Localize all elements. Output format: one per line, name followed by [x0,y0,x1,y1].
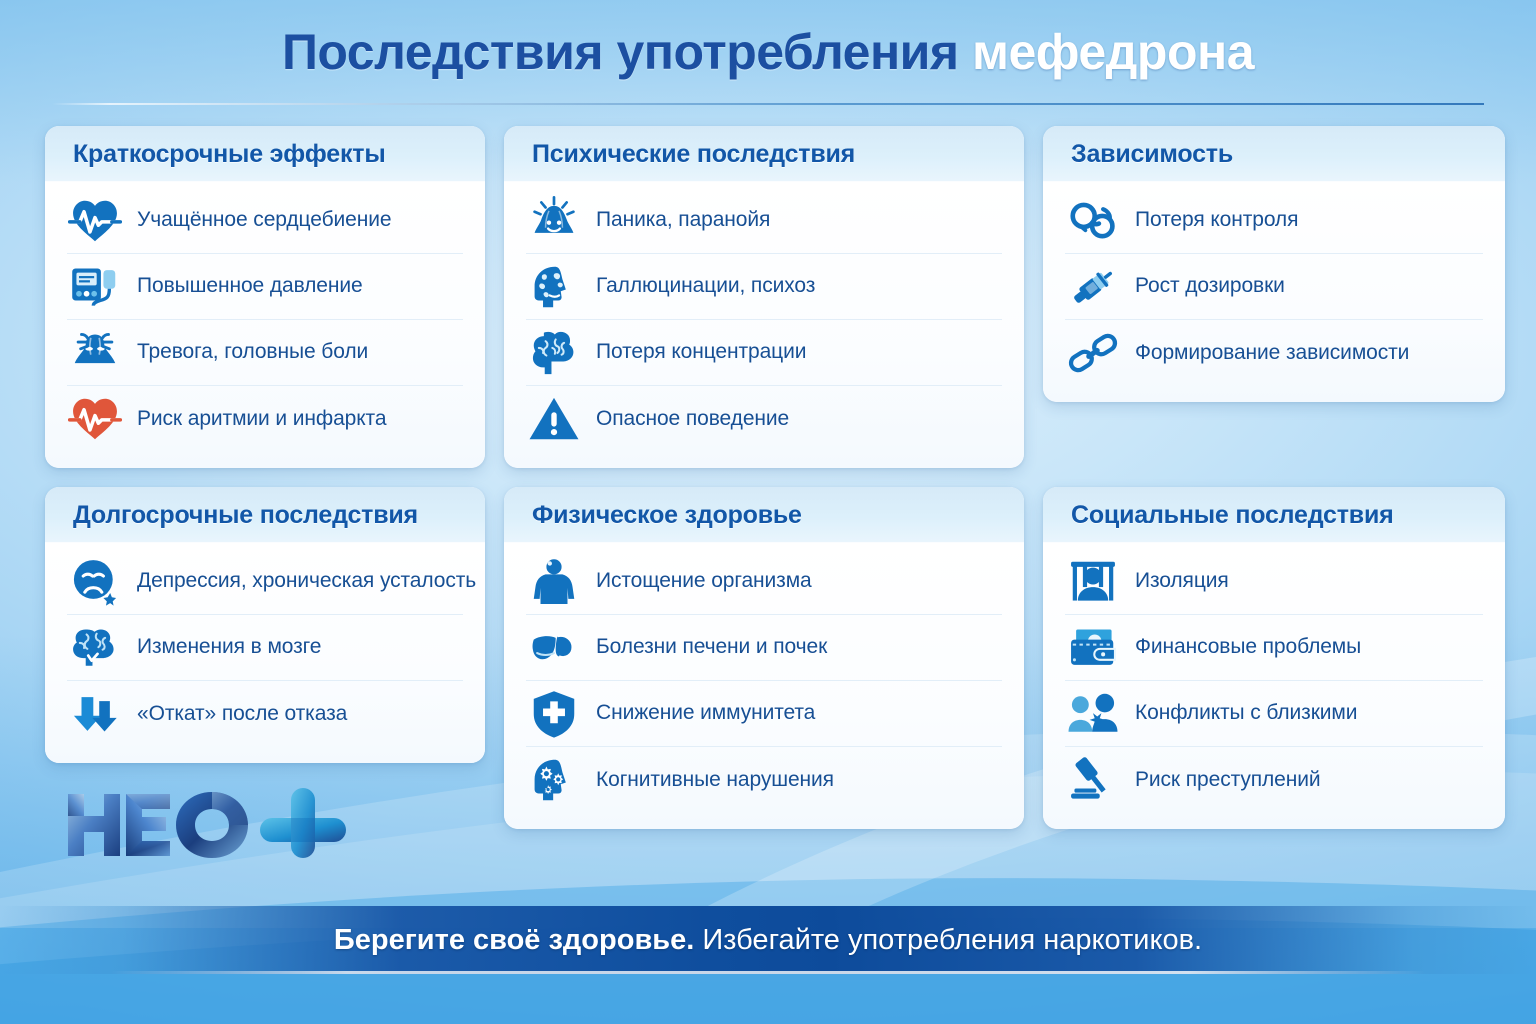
list-item-label: Истощение организма [596,569,812,593]
page-title-highlight: мефедрона [972,24,1254,80]
list-item[interactable]: Когнитивные нарушения [526,747,1002,813]
card-body: Потеря контроля Рост дозировки Формирова… [1043,182,1505,402]
card-body: Паника, паранойя Галлюцинации, психоз По… [504,182,1024,468]
card-header: Социальные последствия [1043,487,1505,543]
list-item-label: «Откат» после отказа [137,702,347,726]
list-item-label: Формирование зависимости [1135,341,1409,365]
list-item-label: Изменения в мозге [137,635,321,659]
gavel-icon [1065,752,1121,808]
title-divider [52,103,1484,105]
list-item[interactable]: Тревога, головные боли [67,320,463,386]
card-title: Зависимость [1071,140,1505,169]
wallet-icon [1065,620,1121,676]
card-dependence: Зависимость Потеря контроля Рост дозиров… [1043,126,1505,402]
syringe-icon [1065,259,1121,315]
list-item-label: Опасное поведение [596,407,789,431]
list-item-label: Риск преступлений [1135,768,1321,792]
stressed-head-icon [67,325,123,381]
list-item-label: Повышенное давление [137,274,363,298]
list-item[interactable]: Повышенное давление [67,254,463,320]
heart-pulse-alert-icon [67,391,123,447]
warning-triangle-icon [526,391,582,447]
list-item[interactable]: Формирование зависимости [1065,320,1483,386]
list-item[interactable]: Финансовые проблемы [1065,615,1483,681]
list-item-label: Галлюцинации, психоз [596,274,815,298]
list-item[interactable]: Снижение иммунитета [526,681,1002,747]
list-item-label: Риск аритмии и инфаркта [137,407,386,431]
list-item-label: Снижение иммунитета [596,701,815,725]
card-header: Краткосрочные эффекты [45,126,485,182]
list-item[interactable]: Опасное поведение [526,386,1002,452]
chain-link-icon [1065,325,1121,381]
footer-message-rest: Избегайте употребления наркотиков. [694,924,1202,956]
list-item[interactable]: Потеря концентрации [526,320,1002,386]
card-long-term-consequences: Долгосрочные последствия Депрессия, хрон… [45,487,485,763]
page-header: Последствия употребления мефедрона [0,0,1536,110]
list-item[interactable]: Изоляция [1065,549,1483,615]
list-item-label: Болезни печени и почек [596,635,827,659]
exhausted-person-icon [526,554,582,610]
card-title: Социальные последствия [1071,501,1505,530]
card-title: Психические последствия [532,140,1024,169]
card-short-term-effects: Краткосрочные эффекты Учащённое сердцеби… [45,126,485,468]
list-item-label: Изоляция [1135,569,1229,593]
list-item-label: Тревога, головные боли [137,340,368,364]
list-item[interactable]: Рост дозировки [1065,254,1483,320]
card-header: Зависимость [1043,126,1505,182]
page-title-primary: Последствия употребления [282,24,972,80]
brain-icon [526,325,582,381]
list-item-label: Учащённое сердцебиение [137,208,391,232]
sad-face-icon [67,554,123,610]
page-title: Последствия употребления мефедрона [0,26,1536,79]
list-item[interactable]: Конфликты с близкими [1065,681,1483,747]
card-header: Физическое здоровье [504,487,1024,543]
people-conflict-icon [1065,686,1121,742]
head-gears-icon [526,752,582,808]
cards-grid: Краткосрочные эффекты Учащённое сердцеби… [45,126,1491,829]
footer-message-bold: Берегите своё здоровье. [334,924,694,956]
list-item[interactable]: Потеря контроля [1065,188,1483,254]
list-item-label: Когнитивные нарушения [596,768,834,792]
list-item[interactable]: Риск преступлений [1065,747,1483,813]
card-physical-health: Физическое здоровье Истощение организма … [504,487,1024,829]
card-header: Психические последствия [504,126,1024,182]
card-header: Долгосрочные последствия [45,487,485,543]
list-item[interactable]: Риск аритмии и инфаркта [67,386,463,452]
hallucination-head-icon [526,259,582,315]
panic-face-icon [526,193,582,249]
card-title: Долгосрочные последствия [73,501,485,530]
card-body: Депрессия, хроническая усталость Изменен… [45,543,485,763]
list-item[interactable]: «Откат» после отказа [67,681,463,747]
card-body: Учащённое сердцебиение Повышенное давлен… [45,182,485,468]
list-item-label: Паника, паранойя [596,208,770,232]
list-item-label: Депрессия, хроническая усталость [137,569,476,593]
card-body: Изоляция Финансовые проблемы Конфликты с… [1043,543,1505,829]
card-mental-consequences: Психические последствия Паника, паранойя… [504,126,1024,468]
shield-cross-icon [526,686,582,742]
list-item-label: Потеря концентрации [596,340,806,364]
blood-pressure-monitor-icon [67,259,123,315]
card-body: Истощение организма Болезни печени и поч… [504,543,1024,829]
footer-message: Берегите своё здоровье. Избегайте употре… [334,924,1202,957]
down-arrows-icon [67,686,123,742]
list-item[interactable]: Болезни печени и почек [526,615,1002,681]
list-item-label: Конфликты с близкими [1135,701,1357,725]
handcuffs-icon [1065,193,1121,249]
footer-banner: Берегите своё здоровье. Избегайте употре… [0,906,1536,974]
person-behind-bars-icon [1065,554,1121,610]
list-item-label: Финансовые проблемы [1135,635,1361,659]
card-social-consequences: Социальные последствия Изоляция Финансов… [1043,487,1505,829]
liver-kidney-icon [526,620,582,676]
list-item[interactable]: Галлюцинации, психоз [526,254,1002,320]
list-item[interactable]: Паника, паранойя [526,188,1002,254]
list-item[interactable]: Истощение организма [526,549,1002,615]
footer-divider [110,971,1426,974]
brain-change-icon [67,620,123,676]
card-title: Физическое здоровье [532,501,1024,530]
heart-pulse-icon [67,193,123,249]
card-title: Краткосрочные эффекты [73,140,485,169]
list-item-label: Потеря контроля [1135,208,1298,232]
brand-logo[interactable] [62,786,352,862]
list-item[interactable]: Учащённое сердцебиение [67,188,463,254]
list-item-label: Рост дозировки [1135,274,1285,298]
list-item[interactable]: Депрессия, хроническая усталость [67,549,463,615]
list-item[interactable]: Изменения в мозге [67,615,463,681]
